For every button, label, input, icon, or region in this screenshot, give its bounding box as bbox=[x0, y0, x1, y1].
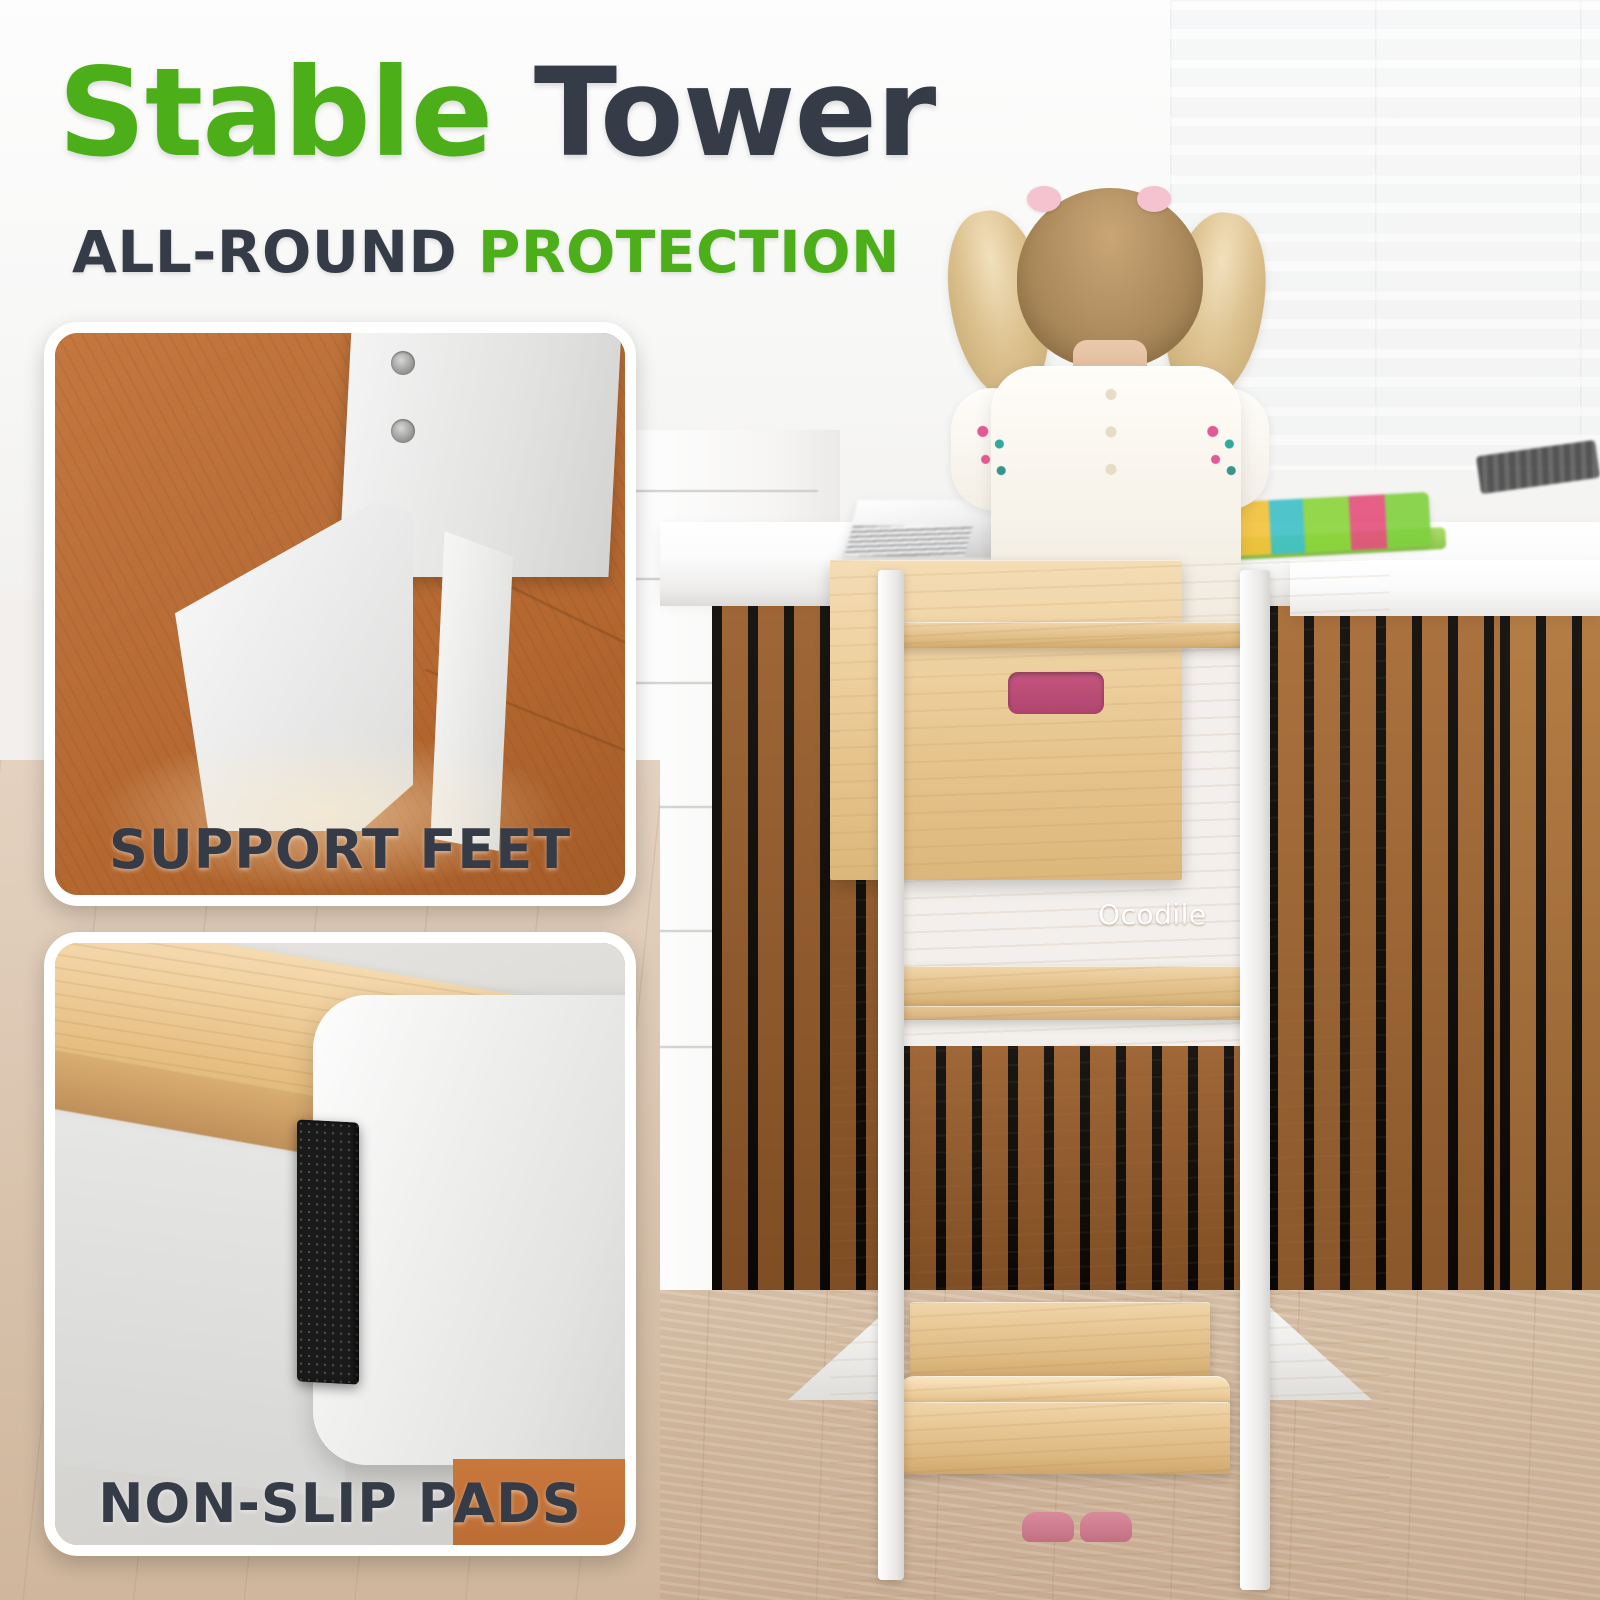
shoe-right bbox=[1080, 1512, 1132, 1542]
hair-tie-left bbox=[1027, 186, 1061, 212]
non-slip-pad-photo bbox=[55, 943, 625, 1545]
slat-wall-panel-far-right bbox=[1500, 596, 1600, 1296]
support-feet-photo bbox=[55, 333, 625, 895]
card-label-support-feet: SUPPORT FEET bbox=[55, 818, 625, 881]
tower-middle-step bbox=[892, 966, 1260, 1008]
tower-post-left bbox=[878, 570, 904, 1580]
headline-word-dark: Tower bbox=[534, 42, 935, 184]
feature-card-support-feet: SUPPORT FEET bbox=[44, 322, 636, 906]
subheadline-part-dark: ALL-ROUND bbox=[72, 218, 457, 286]
screw-bottom bbox=[391, 419, 415, 443]
page-subheadline: ALL-ROUND PROTECTION bbox=[72, 218, 900, 286]
headline-word-green: Stable bbox=[58, 42, 492, 184]
page-headline: Stable Tower bbox=[58, 52, 935, 174]
subheadline-part-green: PROTECTION bbox=[478, 218, 900, 286]
learning-tower: Ocodile bbox=[830, 560, 1390, 1600]
floral-embroidery-left bbox=[969, 416, 1015, 486]
blouse-buttons bbox=[1105, 382, 1117, 486]
shoe-left bbox=[1022, 1512, 1074, 1542]
brand-logo: Ocodile bbox=[1098, 898, 1207, 931]
screw-top bbox=[391, 351, 415, 375]
card-label-non-slip-pads: NON-SLIP PADS bbox=[55, 1472, 625, 1535]
middle-step-lip bbox=[892, 1006, 1260, 1020]
white-frame-panel bbox=[313, 995, 636, 1465]
hair-tie-right bbox=[1137, 186, 1171, 212]
tower-lower-backboard bbox=[910, 1302, 1210, 1380]
non-slip-pad bbox=[297, 1119, 359, 1384]
handle-cutout bbox=[1008, 672, 1104, 714]
floral-embroidery-right bbox=[1199, 416, 1245, 486]
tower-post-right bbox=[1240, 570, 1270, 1590]
bottom-step-face bbox=[900, 1402, 1230, 1474]
feature-card-non-slip-pads: NON-SLIP PADS bbox=[44, 932, 636, 1556]
